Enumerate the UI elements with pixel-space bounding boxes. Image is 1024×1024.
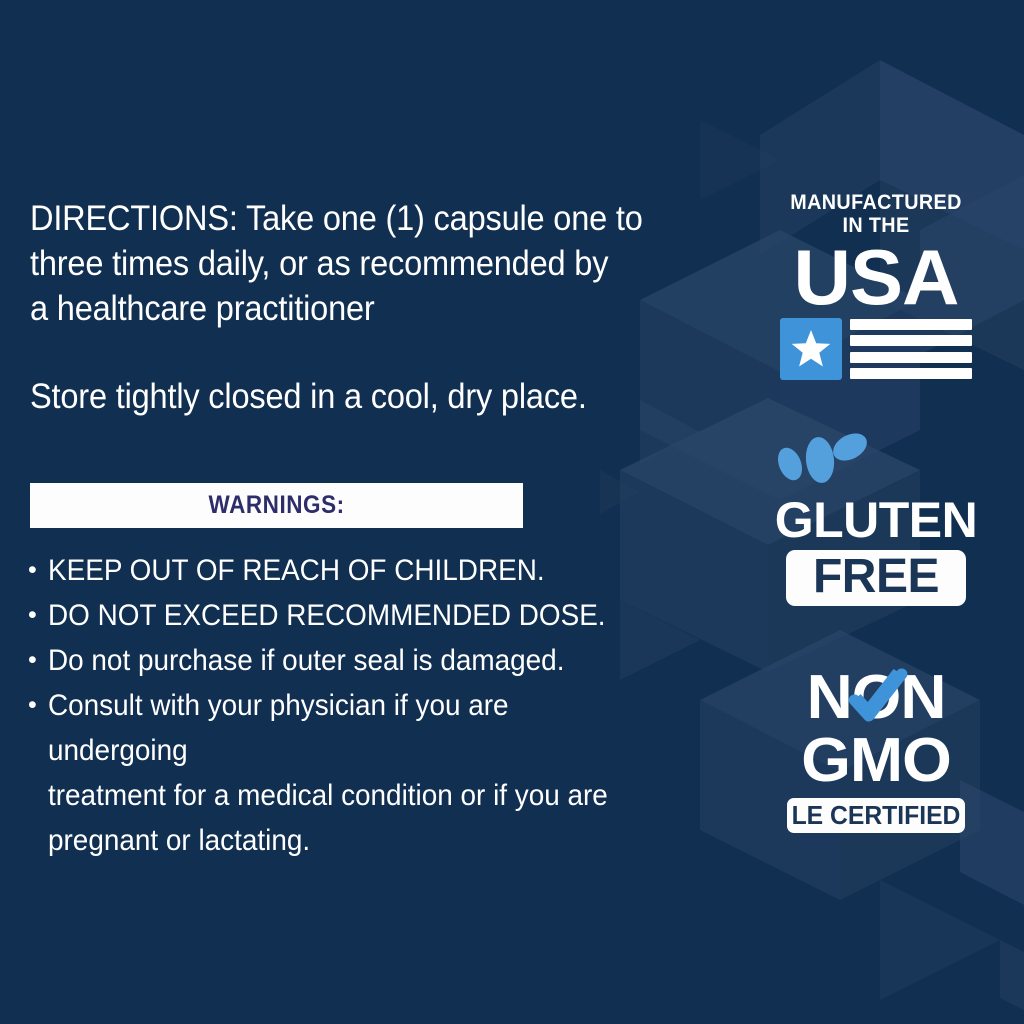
certified-text: LE CERTIFIED xyxy=(791,802,960,828)
non-gmo-badge: NON GMO LE CERTIFIED xyxy=(760,668,992,843)
directions-line-3: a healthcare practitioner xyxy=(30,286,672,331)
free-box: FREE xyxy=(786,550,966,606)
non-word-text: NON xyxy=(807,663,946,732)
directions-line-1: DIRECTIONS: Take one (1) capsule one to xyxy=(30,196,672,241)
warning-text: Consult with your physician if you are u… xyxy=(48,683,653,863)
warning-text: Do not purchase if outer seal is damaged… xyxy=(48,638,653,683)
bullet-icon: • xyxy=(28,683,48,863)
warning-item: • KEEP OUT OF REACH OF CHILDREN. xyxy=(28,548,698,593)
flag-stripe xyxy=(850,352,972,363)
bullet-icon: • xyxy=(28,638,48,683)
bullet-icon: • xyxy=(28,548,48,593)
warning-text: KEEP OUT OF REACH OF CHILDREN. xyxy=(48,548,653,593)
directions-block: DIRECTIONS: Take one (1) capsule one to … xyxy=(30,196,720,331)
storage-line-1: Store tightly closed in a cool, dry plac… xyxy=(30,374,672,419)
star-icon xyxy=(789,327,833,371)
gluten-word: GLUTEN xyxy=(760,495,992,545)
wheat-leaves-icon xyxy=(760,428,880,488)
directions-line-2: three times daily, or as recommended by xyxy=(30,241,672,286)
warning-text: DO NOT EXCEED RECOMMENDED DOSE. xyxy=(48,593,653,638)
non-word: NON xyxy=(757,668,996,728)
warning-item: • Consult with your physician if you are… xyxy=(28,683,698,863)
free-word: FREE xyxy=(786,553,966,601)
flag-stripe xyxy=(850,368,972,379)
flag-canton xyxy=(780,318,842,380)
supplement-label-panel: DIRECTIONS: Take one (1) capsule one to … xyxy=(0,0,1024,1024)
warnings-header-bar: WARNINGS: xyxy=(30,483,523,528)
warning-item: • Do not purchase if outer seal is damag… xyxy=(28,638,698,683)
usa-badge-word: USA xyxy=(758,240,995,314)
storage-block: Store tightly closed in a cool, dry plac… xyxy=(30,374,720,419)
manufactured-in-usa-badge: MANUFACTURED IN THE USA xyxy=(760,190,992,390)
label-text-column: DIRECTIONS: Take one (1) capsule one to … xyxy=(30,196,720,419)
flag-stripe xyxy=(850,319,972,330)
bullet-icon: • xyxy=(28,593,48,638)
warnings-list: • KEEP OUT OF REACH OF CHILDREN. • DO NO… xyxy=(28,548,698,863)
gluten-free-badge: GLUTEN FREE xyxy=(760,428,992,608)
certified-box: LE CERTIFIED xyxy=(787,798,965,833)
flag-stripes xyxy=(850,318,972,380)
certification-badges-column: MANUFACTURED IN THE USA xyxy=(760,190,992,843)
usa-flag-icon xyxy=(780,318,972,380)
warnings-title: WARNINGS: xyxy=(208,491,344,520)
flag-stripe xyxy=(850,335,972,346)
warning-item: • DO NOT EXCEED RECOMMENDED DOSE. xyxy=(28,593,698,638)
usa-badge-line-1: MANUFACTURED xyxy=(777,190,976,215)
gmo-word: GMO xyxy=(757,730,996,792)
